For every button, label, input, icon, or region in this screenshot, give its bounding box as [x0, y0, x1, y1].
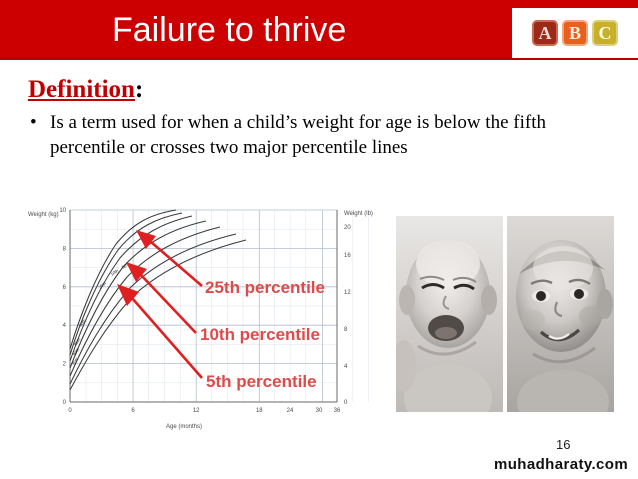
callout-10th-percentile: 10th percentile: [200, 325, 320, 344]
y-axis-label-kg: Weight (kg): [28, 212, 59, 218]
alphabet-block-c: C: [592, 20, 618, 46]
infant-photo-before: [396, 216, 503, 412]
x-tick-18: 18: [256, 408, 263, 414]
definition-heading-colon: :: [135, 76, 143, 103]
definition-heading-word: Definition: [28, 76, 135, 103]
abc-blocks-logo: A B C: [512, 8, 638, 58]
definition-bullet-text: Is a term used for when a child’s weight…: [50, 110, 610, 160]
bullet-marker-icon: •: [30, 110, 50, 135]
y-right-tick-20: 20: [344, 225, 351, 231]
growth-chart-svg: 95th 90th 75th 50th 25th 10th 5th 0 2 4 …: [24, 196, 382, 436]
y-axis-label-lb: Weight (lb): [344, 211, 373, 217]
x-tick-36: 36: [334, 408, 341, 414]
growth-chart-figure: 95th 90th 75th 50th 25th 10th 5th 0 2 4 …: [24, 196, 382, 436]
infant-photo-after-svg: [507, 216, 614, 412]
definition-heading: Definition:: [28, 76, 143, 104]
y-right-tick-16: 16: [344, 253, 351, 259]
y-right-tick-12: 12: [344, 290, 351, 296]
site-credit: muhadharaty.com: [494, 456, 628, 473]
x-tick-30: 30: [316, 408, 323, 414]
infant-photo-after: [507, 216, 614, 412]
x-axis-label: Age (months): [166, 424, 202, 430]
y-tick-10: 10: [59, 208, 66, 214]
alphabet-block-a: A: [532, 20, 558, 46]
infant-photo-pair: [396, 216, 614, 412]
definition-bullet-item: • Is a term used for when a child’s weig…: [30, 110, 610, 160]
page-number: 16: [556, 437, 570, 452]
callout-5th-percentile: 5th percentile: [206, 372, 317, 391]
x-tick-12: 12: [193, 408, 200, 414]
x-tick-24: 24: [287, 408, 294, 414]
callout-25th-percentile: 25th percentile: [205, 278, 325, 297]
infant-photo-before-svg: [396, 216, 503, 412]
alphabet-block-b: B: [562, 20, 588, 46]
page-title: Failure to thrive: [112, 7, 492, 53]
